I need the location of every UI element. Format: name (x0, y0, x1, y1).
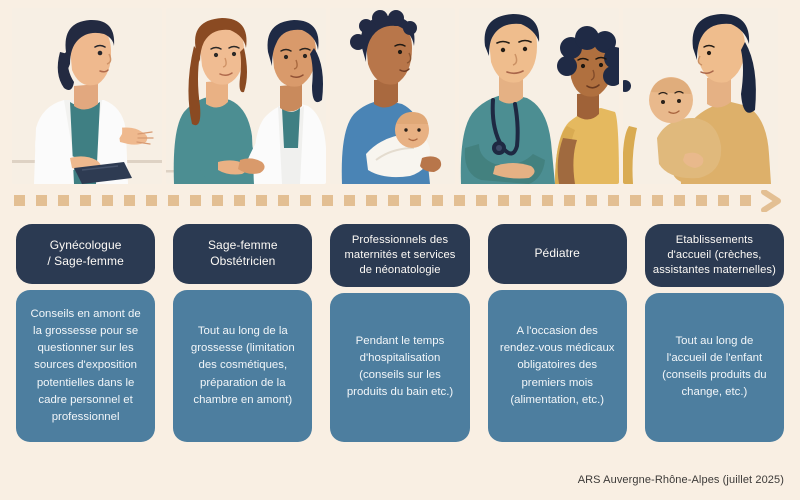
card-column-pediatre: Pédiatre A l'occasion des rendez-vous mé… (488, 224, 627, 442)
timeline-arrow-dashes (14, 195, 758, 206)
card-title-etablissements-accueil: Etablissements d'accueil (crèches, assis… (645, 224, 784, 287)
illustration-pregnant-woman-with-midwife (166, 8, 326, 184)
card-title-sage-femme-obstetricien: Sage-femmeObstétricien (173, 224, 312, 284)
card-column-etablissements-accueil: Etablissements d'accueil (crèches, assis… (645, 224, 784, 442)
infographic-root: Gynécologue/ Sage-femme Conseils en amon… (0, 0, 800, 500)
card-body-sage-femme-obstetricien: Tout au long de la grossesse (limitation… (173, 290, 312, 442)
card-body-etablissements-accueil: Tout au long de l'accueil de l'enfant (c… (645, 293, 784, 442)
illustration-gynecologist-consultation (12, 8, 162, 184)
card-title-pediatre: Pédiatre (488, 224, 627, 284)
card-column-gynecologue-sage-femme: Gynécologue/ Sage-femme Conseils en amon… (16, 224, 155, 442)
timeline-arrow-head-icon (760, 190, 786, 212)
card-body-professionnels-maternites-neonatologie: Pendant le temps d'hospitalisation (cons… (330, 293, 469, 442)
card-column-sage-femme-obstetricien: Sage-femmeObstétricien Tout au long de l… (173, 224, 312, 442)
illustration-maternity-nurse-with-newborn (330, 8, 455, 184)
professional-cards: Gynécologue/ Sage-femme Conseils en amon… (0, 224, 800, 442)
card-column-professionnels-maternites-neonatologie: Professionnels des maternités et service… (330, 224, 469, 442)
card-body-gynecologue-sage-femme: Conseils en amont de la grossesse pour s… (16, 290, 155, 442)
card-title-gynecologue-sage-femme: Gynécologue/ Sage-femme (16, 224, 155, 284)
card-title-professionnels-maternites-neonatologie: Professionnels des maternités et service… (330, 224, 469, 287)
timeline-arrow (14, 190, 786, 212)
card-body-pediatre: A l'occasion des rendez-vous médicaux ob… (488, 290, 627, 442)
illustration-caregiver-with-baby (623, 8, 778, 184)
illustration-strip (0, 8, 800, 184)
illustration-pediatrician-with-parent (459, 8, 619, 184)
source-credit: ARS Auvergne-Rhône-Alpes (juillet 2025) (578, 474, 784, 486)
